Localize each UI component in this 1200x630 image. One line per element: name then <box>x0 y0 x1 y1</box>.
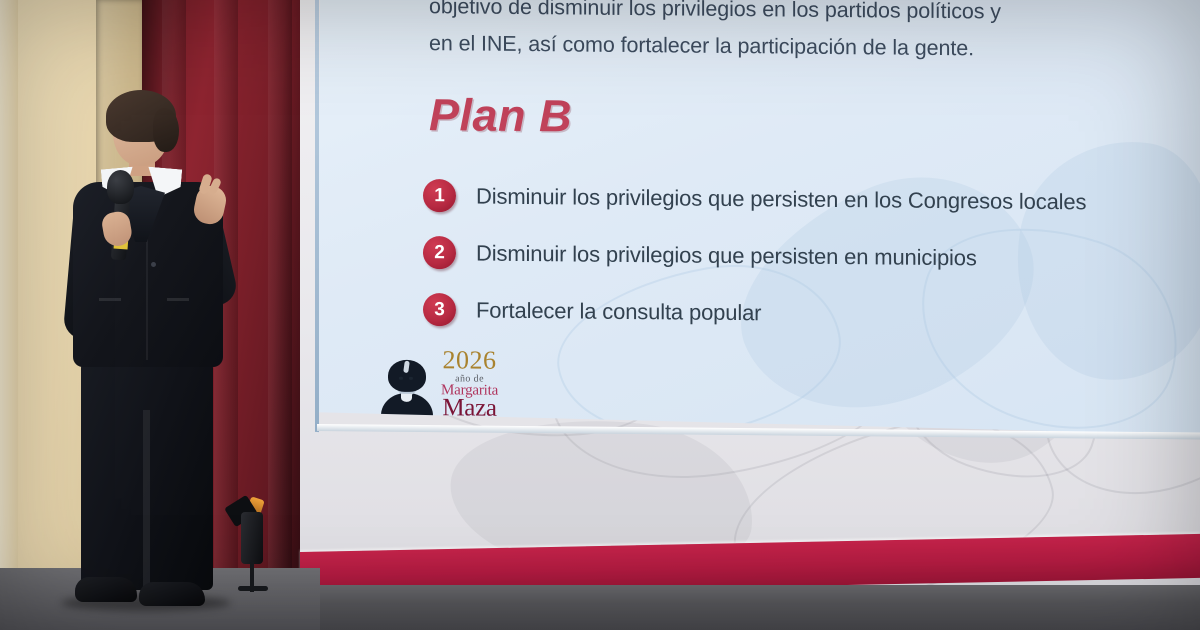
slide-content: objetivo de disminuir los privilegios en… <box>317 0 1200 435</box>
bullet-text: Disminuir los privilegios que persisten … <box>476 183 1086 215</box>
list-item: 2 Disminuir los privilegios que persiste… <box>423 224 1200 289</box>
bullet-number-badge: 3 <box>423 293 456 326</box>
logo-year: 2026 <box>441 347 498 374</box>
lede-line-2: en el INE, así como fortalecer la partic… <box>429 25 1200 69</box>
list-item: 1 Disminuir los privilegios que persiste… <box>423 167 1200 232</box>
list-item: 3 Fortalecer la consulta popular <box>423 281 1200 346</box>
speaker-figure <box>55 90 255 625</box>
speaker-shoe-left <box>75 577 137 602</box>
bullet-text: Disminuir los privilegios que persisten … <box>476 240 977 271</box>
bullet-text: Fortalecer la consulta popular <box>476 297 761 326</box>
slide-heading: Plan B <box>429 89 572 142</box>
portrait-icon <box>379 360 435 423</box>
bullet-number-badge: 2 <box>423 236 456 269</box>
speaker-hair-back <box>153 108 179 152</box>
bullet-number-badge: 1 <box>423 179 456 212</box>
slide-bullet-list: 1 Disminuir los privilegios que persiste… <box>423 167 1200 346</box>
margarita-maza-logo: 2026 año de Margarita Maza <box>379 347 498 423</box>
microphone-icon <box>107 170 134 204</box>
speaker-shoe-right <box>139 582 205 606</box>
screenshot-root: objetivo de disminuir los privilegios en… <box>0 0 1200 630</box>
slide-lede-paragraph: objetivo de disminuir los privilegios en… <box>429 0 1200 70</box>
